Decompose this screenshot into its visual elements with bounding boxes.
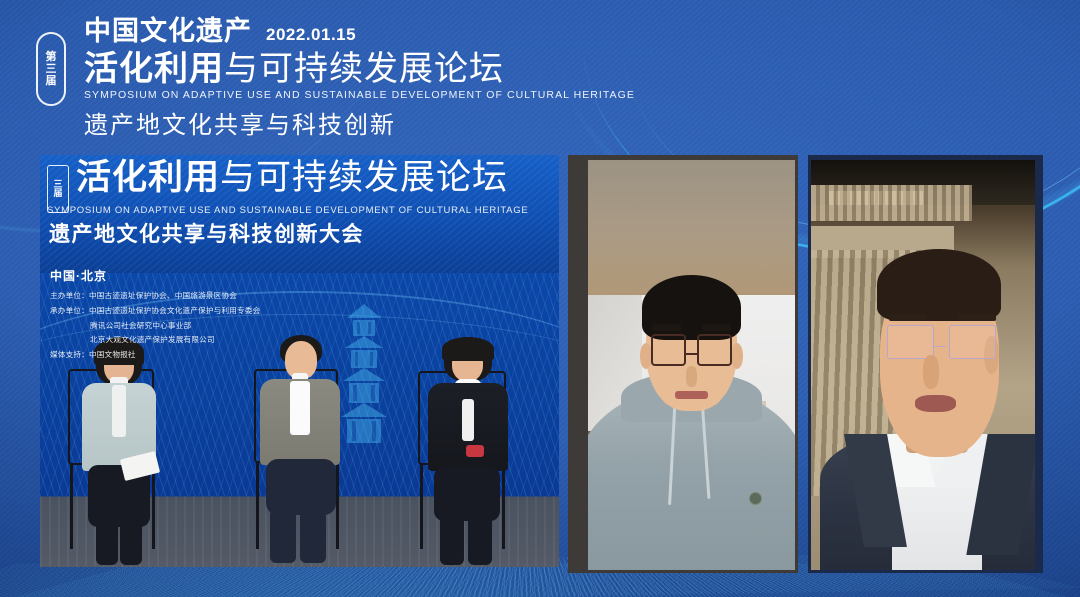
stage-sub-headline: 遗产地文化共享与科技创新大会	[49, 218, 364, 248]
stage-headline-rest: 与可持续发展论坛	[220, 158, 508, 197]
english-subtitle: SYMPOSIUM ON ADAPTIVE USE AND SUSTAINABL…	[84, 89, 676, 101]
hair	[877, 249, 1000, 321]
hoodie-participant	[588, 275, 795, 570]
eyeglasses-right-lens	[949, 325, 996, 359]
broadcast-stage: 第 三 届 中国文化遗产 2022.01.15 活化利用与可持续发展论坛 SYM…	[0, 0, 1080, 597]
remote-speaker-hoodie-panel[interactable]	[568, 155, 798, 573]
mouth	[915, 395, 955, 412]
chair-leg	[70, 463, 73, 549]
stage-english-subtitle: SYMPOSIUM ON ADAPTIVE USE AND SUSTAINABL…	[47, 205, 528, 216]
edition-badge-char-3: 届	[46, 76, 57, 87]
credit-line-company: 北京大观文化遗产保护发展有限公司	[50, 333, 350, 348]
chair-leg	[336, 461, 339, 549]
credit-line-tencent: 腾讯公司社会研究中心事业部	[50, 319, 350, 334]
edition-badge: 第 三 届	[36, 32, 66, 106]
event-date: 2022.01.15	[266, 25, 356, 45]
stage-speaker-guest-2	[410, 337, 542, 567]
event-title-block: 第 三 届 中国文化遗产 2022.01.15 活化利用与可持续发展论坛 SYM…	[36, 18, 676, 140]
stage-headline-emphasis: 活化利用	[76, 158, 220, 197]
stage-headline: 活化利用与可持续发展论坛	[76, 160, 508, 197]
edition-badge-char-2: 三	[46, 64, 57, 75]
headline-rest: 与可持续发展论坛	[224, 50, 504, 88]
chair-leg	[502, 463, 505, 549]
eyeglasses-right-lens	[697, 334, 732, 366]
headline-emphasis: 活化利用	[84, 50, 224, 88]
dress-shirt	[290, 381, 310, 435]
sub-headline: 遗产地文化共享与科技创新	[84, 105, 676, 140]
stage-speaker-host	[62, 337, 192, 567]
suit-participant	[811, 193, 1035, 570]
mouth	[675, 391, 708, 399]
edition-badge-char-1: 第	[46, 52, 57, 63]
chair-leg	[420, 463, 423, 549]
event-location: 中国·北京	[50, 267, 350, 284]
credit-line-host: 主办单位：中国古迹遗址保护协会、中国旅游景区协会	[50, 289, 350, 304]
stage-speaker-guest-1	[240, 335, 370, 567]
studio-stage-panel[interactable]: 三 届 活化利用与可持续发展论坛 SYMPOSIUM ON ADAPTIVE U…	[40, 155, 559, 567]
stage-credits-block: 中国·北京 主办单位：中国古迹遗址保护协会、中国旅游景区协会 承办单位：中国古迹…	[50, 267, 350, 363]
main-headline: 活化利用与可持续发展论坛	[84, 51, 676, 88]
hoodie-video-feed	[588, 160, 795, 570]
credit-line-media: 媒体支持：中国文物报社	[50, 348, 350, 363]
chair-leg	[256, 461, 259, 549]
suit-video-feed	[811, 160, 1035, 570]
phone-in-hand	[466, 445, 484, 457]
stage-badge-char-2: 届	[53, 189, 62, 198]
title-top-line: 中国文化遗产 2022.01.15	[84, 18, 676, 45]
hoodie-logo	[749, 492, 762, 505]
chair-leg	[152, 463, 155, 549]
eyeglasses-left-lens	[887, 325, 934, 359]
credit-line-organizer: 承办单位：中国古迹遗址保护协会文化遗产保护与利用专委会	[50, 304, 350, 319]
stage-backdrop-banner: 三 届 活化利用与可持续发展论坛 SYMPOSIUM ON ADAPTIVE U…	[40, 155, 559, 273]
eyeglasses-left-lens	[651, 334, 686, 366]
remote-speaker-suit-panel[interactable]	[808, 155, 1043, 573]
heritage-title: 中国文化遗产	[84, 18, 252, 45]
